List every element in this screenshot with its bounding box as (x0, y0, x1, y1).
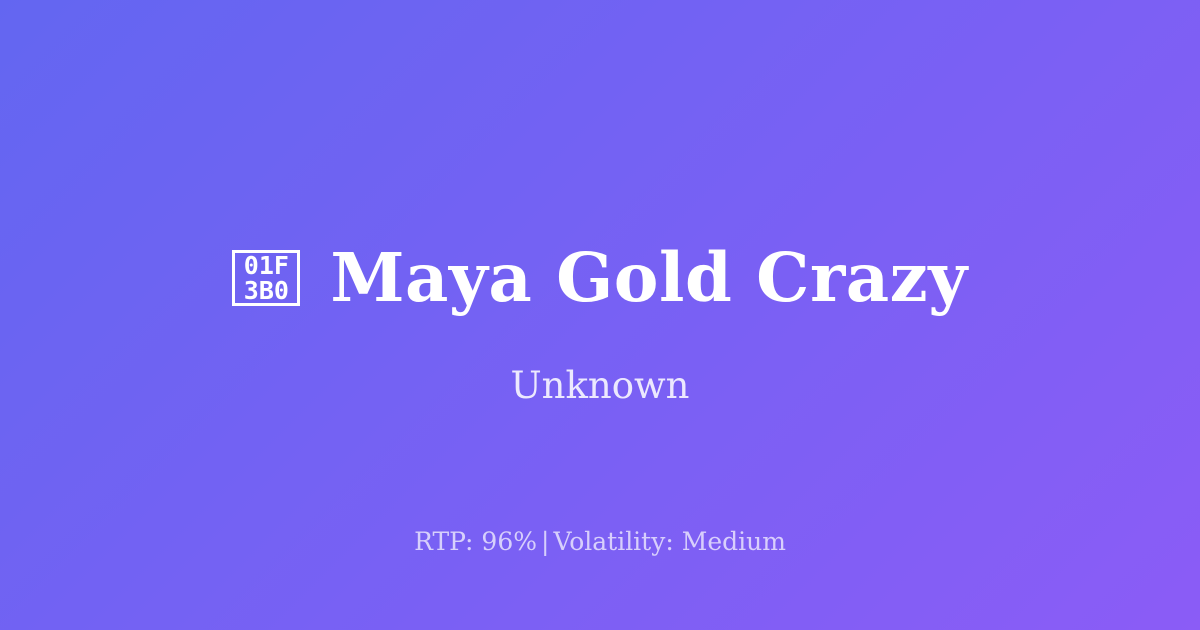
title-row: 01F 3B0 Maya Gold Crazy (0, 236, 1200, 320)
provider-label: Unknown (0, 362, 1200, 410)
volatility-stat: Volatility: Medium (553, 527, 785, 556)
game-stats: RTP: 96%|Volatility: Medium (0, 526, 1200, 558)
slot-machine-emoji-icon: 01F 3B0 (232, 250, 300, 306)
rtp-stat: RTP: 96% (414, 527, 537, 556)
page-title: Maya Gold Crazy (330, 239, 967, 317)
stats-separator: | (537, 527, 553, 556)
game-preview-card: 01F 3B0 Maya Gold Crazy Unknown RTP: 96%… (0, 0, 1200, 630)
emoji-codepoint-bottom: 3B0 (244, 278, 289, 303)
emoji-codepoint-top: 01F (244, 253, 289, 278)
